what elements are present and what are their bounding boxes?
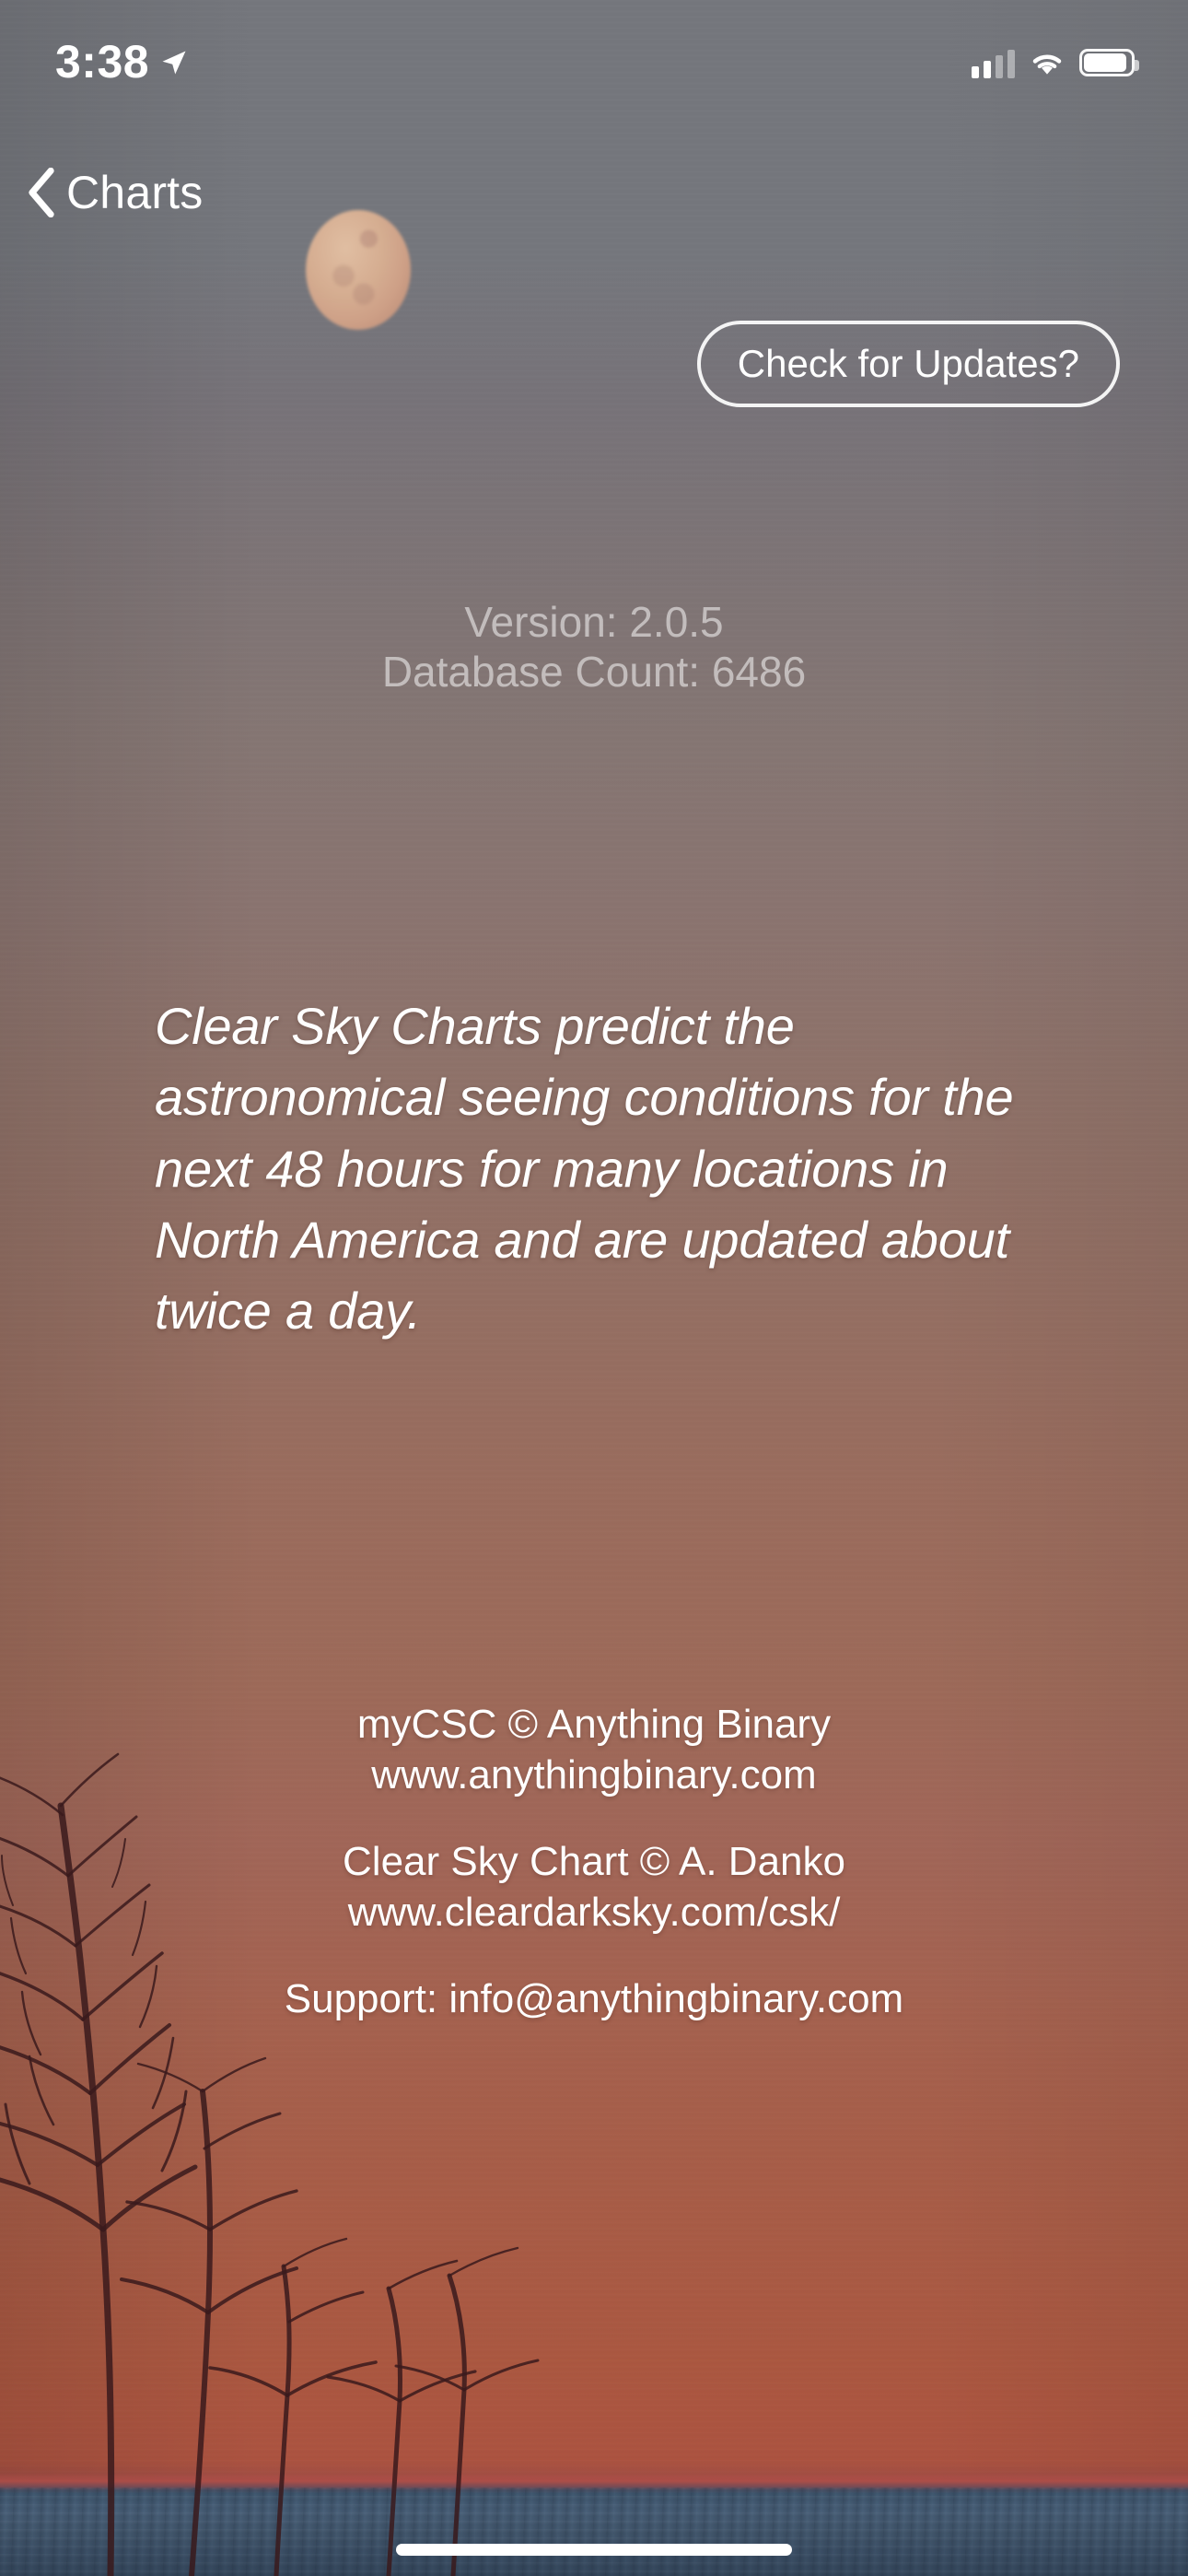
status-bar-time: 3:38 — [55, 35, 149, 88]
app-description-text: Clear Sky Charts predict the astronomica… — [155, 990, 1033, 1346]
credit-group-csc: Clear Sky Chart © A. Danko www.cleardark… — [0, 1837, 1188, 1938]
credit-mycsc-copyright: myCSC © Anything Binary — [0, 1700, 1188, 1751]
status-bar: 3:38 — [0, 0, 1188, 111]
credit-support-email[interactable]: Support: info@anythingbinary.com — [0, 1974, 1188, 2025]
app-screen: 3:38 Charts Check for Upda — [0, 0, 1188, 2576]
database-count-text: Database Count: 6486 — [0, 647, 1188, 697]
chevron-left-icon — [26, 168, 57, 217]
home-indicator[interactable] — [396, 2544, 792, 2556]
credit-csc-website[interactable]: www.cleardarksky.com/csk/ — [0, 1888, 1188, 1938]
credit-csc-copyright: Clear Sky Chart © A. Danko — [0, 1837, 1188, 1888]
credit-group-support: Support: info@anythingbinary.com — [0, 1974, 1188, 2025]
cellular-signal-icon — [972, 47, 1015, 78]
location-arrow-icon — [160, 49, 188, 76]
credit-group-mycsc: myCSC © Anything Binary www.anythingbina… — [0, 1700, 1188, 1800]
battery-icon — [1079, 49, 1135, 76]
status-bar-right — [972, 32, 1135, 78]
app-info-block: Version: 2.0.5 Database Count: 6486 — [0, 597, 1188, 697]
back-button-label: Charts — [66, 170, 203, 216]
back-button[interactable]: Charts — [26, 168, 203, 217]
credit-mycsc-website[interactable]: www.anythingbinary.com — [0, 1751, 1188, 1801]
check-for-updates-button[interactable]: Check for Updates? — [697, 321, 1120, 407]
version-text: Version: 2.0.5 — [0, 597, 1188, 647]
background-water — [0, 2488, 1188, 2576]
moon-icon — [306, 210, 411, 330]
wifi-icon — [1028, 48, 1066, 77]
credits-block: myCSC © Anything Binary www.anythingbina… — [0, 1700, 1188, 2025]
status-bar-left: 3:38 — [55, 22, 188, 88]
